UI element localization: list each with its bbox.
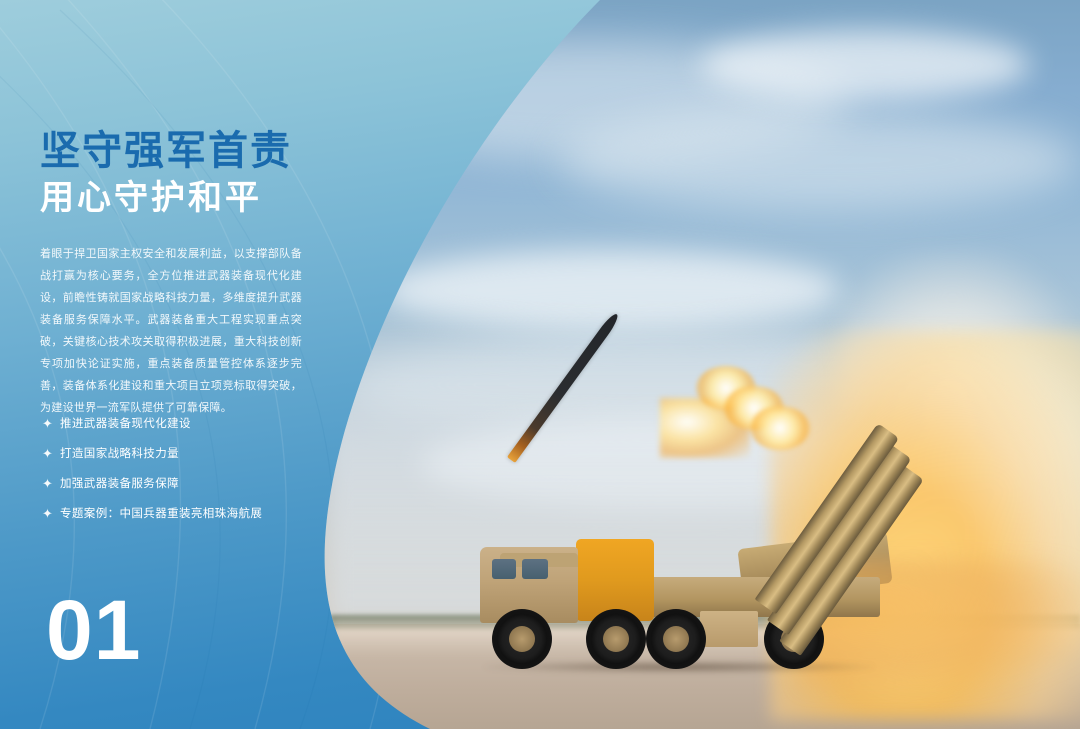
title-line-2: 用心守护和平 — [40, 176, 380, 220]
list-item[interactable]: ✦ 加强武器装备服务保障 — [42, 468, 372, 498]
bullet-star-icon: ✦ — [42, 477, 60, 490]
bullet-star-icon: ✦ — [42, 507, 60, 520]
text-column: 坚守强军首责 用心守护和平 着眼于捍卫国家主权安全和发展利益，以支撑部队备战打赢… — [0, 0, 420, 729]
list-item-label: 打造国家战略科技力量 — [60, 445, 179, 461]
page-title: 坚守强军首责 用心守护和平 — [40, 126, 380, 220]
list-item-label: 专题案例：中国兵器重装亮相珠海航展 — [60, 505, 262, 521]
title-line-1: 坚守强军首责 — [40, 126, 380, 176]
cloud-icon — [700, 30, 1030, 100]
bullet-star-icon: ✦ — [42, 417, 60, 430]
section-number: 01 — [46, 588, 141, 672]
bullet-star-icon: ✦ — [42, 447, 60, 460]
bullet-list: ✦ 推进武器装备现代化建设 ✦ 打造国家战略科技力量 ✦ 加强武器装备服务保障 … — [42, 408, 372, 528]
cloud-icon — [560, 110, 1080, 210]
list-item[interactable]: ✦ 打造国家战略科技力量 — [42, 438, 372, 468]
slide-page: 坚守强军首责 用心守护和平 着眼于捍卫国家主权安全和发展利益，以支撑部队备战打赢… — [0, 0, 1080, 729]
list-item[interactable]: ✦ 推进武器装备现代化建设 — [42, 408, 372, 438]
list-item-label: 加强武器装备服务保障 — [60, 475, 179, 491]
list-item-label: 推进武器装备现代化建设 — [60, 415, 191, 431]
body-paragraph: 着眼于捍卫国家主权安全和发展利益，以支撑部队备战打赢为核心要务，全方位推进武器装… — [40, 243, 302, 419]
list-item[interactable]: ✦ 专题案例：中国兵器重装亮相珠海航展 — [42, 498, 372, 528]
